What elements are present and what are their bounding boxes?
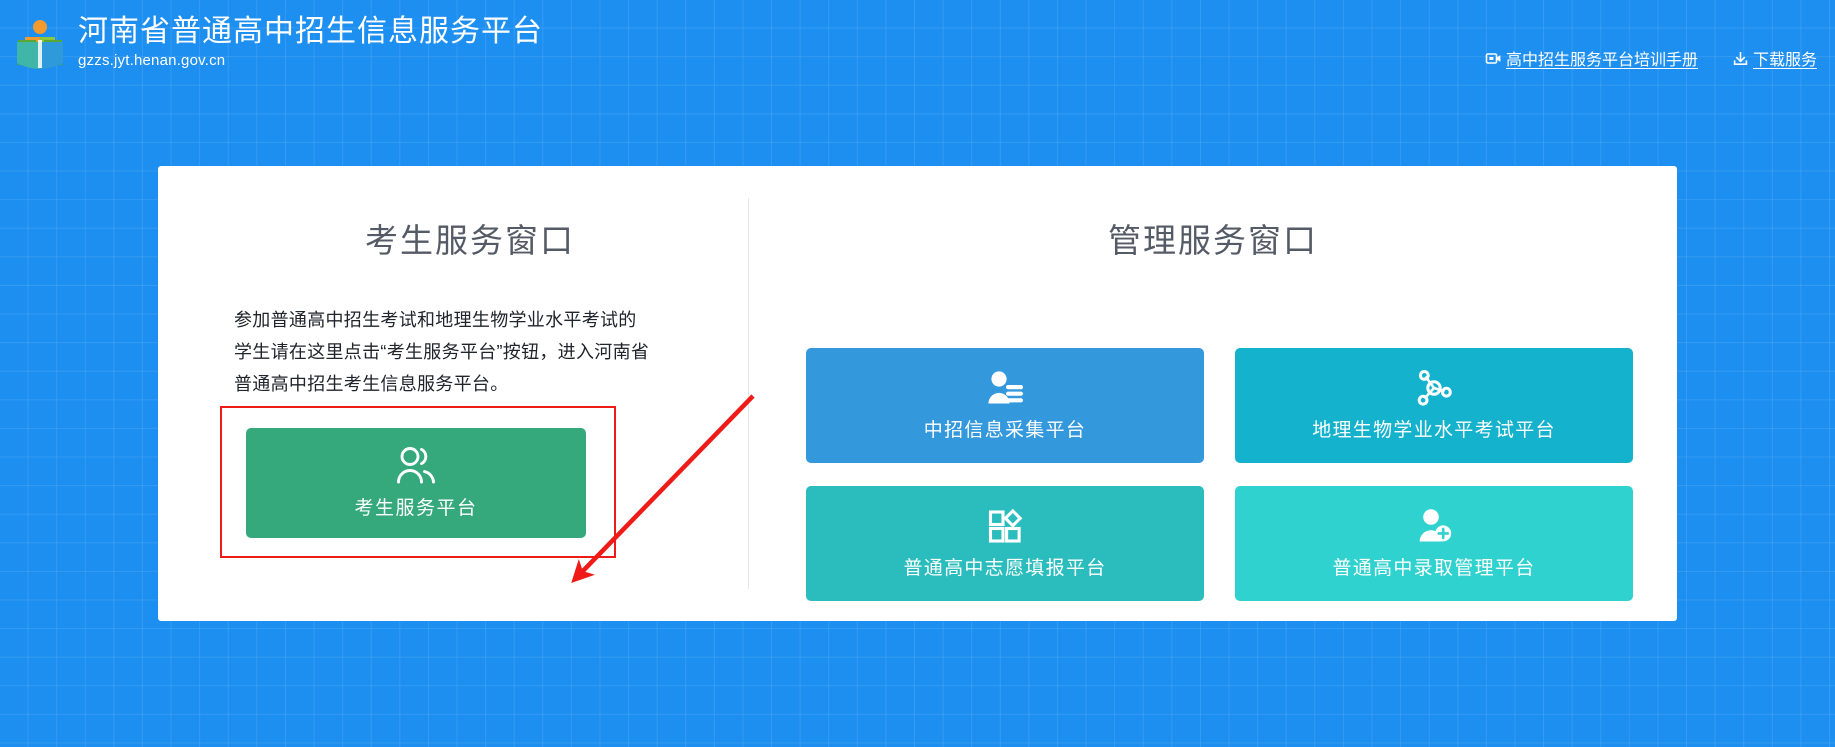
site-header: 河南省普通高中招生信息服务平台 gzzs.jyt.henan.gov.cn 高中…: [0, 0, 1835, 100]
site-url: gzzs.jyt.henan.gov.cn: [78, 51, 543, 71]
tile-application-filling-platform[interactable]: 普通高中志愿填报平台: [806, 486, 1204, 601]
brand-text: 河南省普通高中招生信息服务平台 gzzs.jyt.henan.gov.cn: [78, 14, 543, 71]
molecule-node-icon: [1414, 369, 1454, 407]
book-logo-icon: [14, 16, 66, 72]
management-tile-grid: 中招信息采集平台 地理生物学业水平考试平台: [806, 348, 1633, 601]
tile-label: 普通高中志愿填报平台: [903, 553, 1106, 580]
header-link-training-manual[interactable]: 高中招生服务平台培训手册: [1485, 46, 1698, 70]
video-manual-icon: [1485, 50, 1502, 67]
candidate-cta-wrapper: 考生服务平台: [220, 406, 616, 558]
person-plus-icon: [1414, 507, 1454, 545]
header-link-label: 下载服务: [1753, 46, 1817, 70]
download-icon: [1732, 50, 1749, 67]
brand: 河南省普通高中招生信息服务平台 gzzs.jyt.henan.gov.cn: [14, 14, 543, 72]
tile-label: 中招信息采集平台: [924, 415, 1086, 442]
tile-geo-bio-exam-platform[interactable]: 地理生物学业水平考试平台: [1235, 348, 1633, 463]
header-link-download-service[interactable]: 下载服务: [1732, 46, 1817, 70]
header-link-label: 高中招生服务平台培训手册: [1506, 46, 1698, 70]
candidate-panel-title: 考生服务窗口: [158, 166, 748, 262]
tile-label: 普通高中录取管理平台: [1332, 553, 1535, 580]
site-title: 河南省普通高中招生信息服务平台: [78, 14, 543, 50]
person-list-icon: [985, 369, 1025, 407]
candidate-service-platform-label: 考生服务平台: [354, 493, 477, 520]
candidate-intro-text: 参加普通高中招生考试和地理生物学业水平考试的学生请在这里点击“考生服务平台”按钮…: [234, 304, 654, 400]
management-service-panel: 管理服务窗口 中招信息采集平台: [749, 166, 1677, 621]
tile-info-collection-platform[interactable]: 中招信息采集平台: [806, 348, 1204, 463]
candidate-service-panel: 考生服务窗口 参加普通高中招生考试和地理生物学业水平考试的学生请在这里点击“考生…: [158, 166, 748, 621]
tile-label: 地理生物学业水平考试平台: [1312, 415, 1556, 442]
tile-admission-management-platform[interactable]: 普通高中录取管理平台: [1235, 486, 1633, 601]
header-links: 高中招生服务平台培训手册 下载服务: [1485, 46, 1817, 70]
management-panel-title: 管理服务窗口: [749, 166, 1677, 262]
two-people-icon: [395, 446, 437, 484]
candidate-service-platform-button[interactable]: 考生服务平台: [246, 428, 586, 538]
grid-diamond-icon: [985, 507, 1025, 545]
main-card: 考生服务窗口 参加普通高中招生考试和地理生物学业水平考试的学生请在这里点击“考生…: [158, 166, 1677, 621]
